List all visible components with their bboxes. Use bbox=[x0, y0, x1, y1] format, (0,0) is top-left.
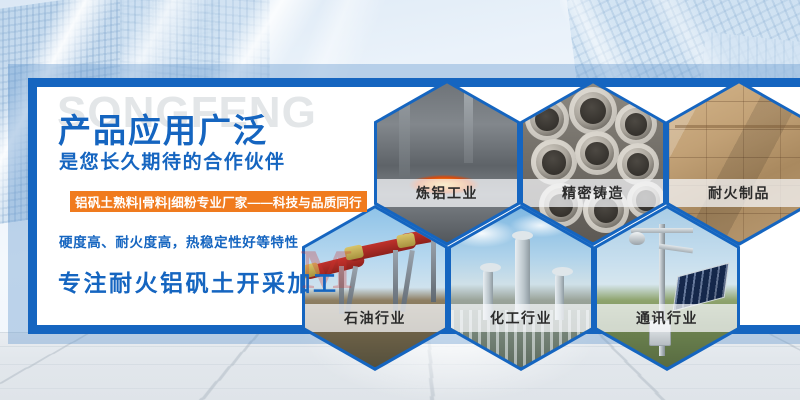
tagline-badge-label: 铝矾土熟料|骨料|细粉专业厂家——科技与品质同行 bbox=[75, 192, 362, 211]
hexagon-label: 精密铸造 bbox=[523, 179, 663, 207]
hexagon-label: 化工行业 bbox=[451, 304, 591, 332]
hexagon-label: 耐火制品 bbox=[669, 179, 800, 207]
tagline-badge: 铝矾土熟料|骨料|细粉专业厂家——科技与品质同行 bbox=[70, 191, 367, 212]
page-subtitle: 是您长久期待的合作伙伴 bbox=[59, 147, 286, 174]
feature-description: 硬度高、耐火度高，热稳定性好等特性 bbox=[59, 231, 299, 251]
hexagon-label: 通讯行业 bbox=[597, 304, 737, 332]
focus-statement: 专注耐火铝矾土开采加工 bbox=[58, 264, 339, 298]
page-title: 产品应用广泛 bbox=[58, 104, 268, 152]
promotional-banner: 炼铝工业 精密铸造 耐火制品 bbox=[0, 0, 800, 400]
banner-text-block: SONGFENG M 产品应用广泛 是您长久期待的合作伙伴 铝矾土熟料|骨料|细… bbox=[0, 0, 400, 400]
